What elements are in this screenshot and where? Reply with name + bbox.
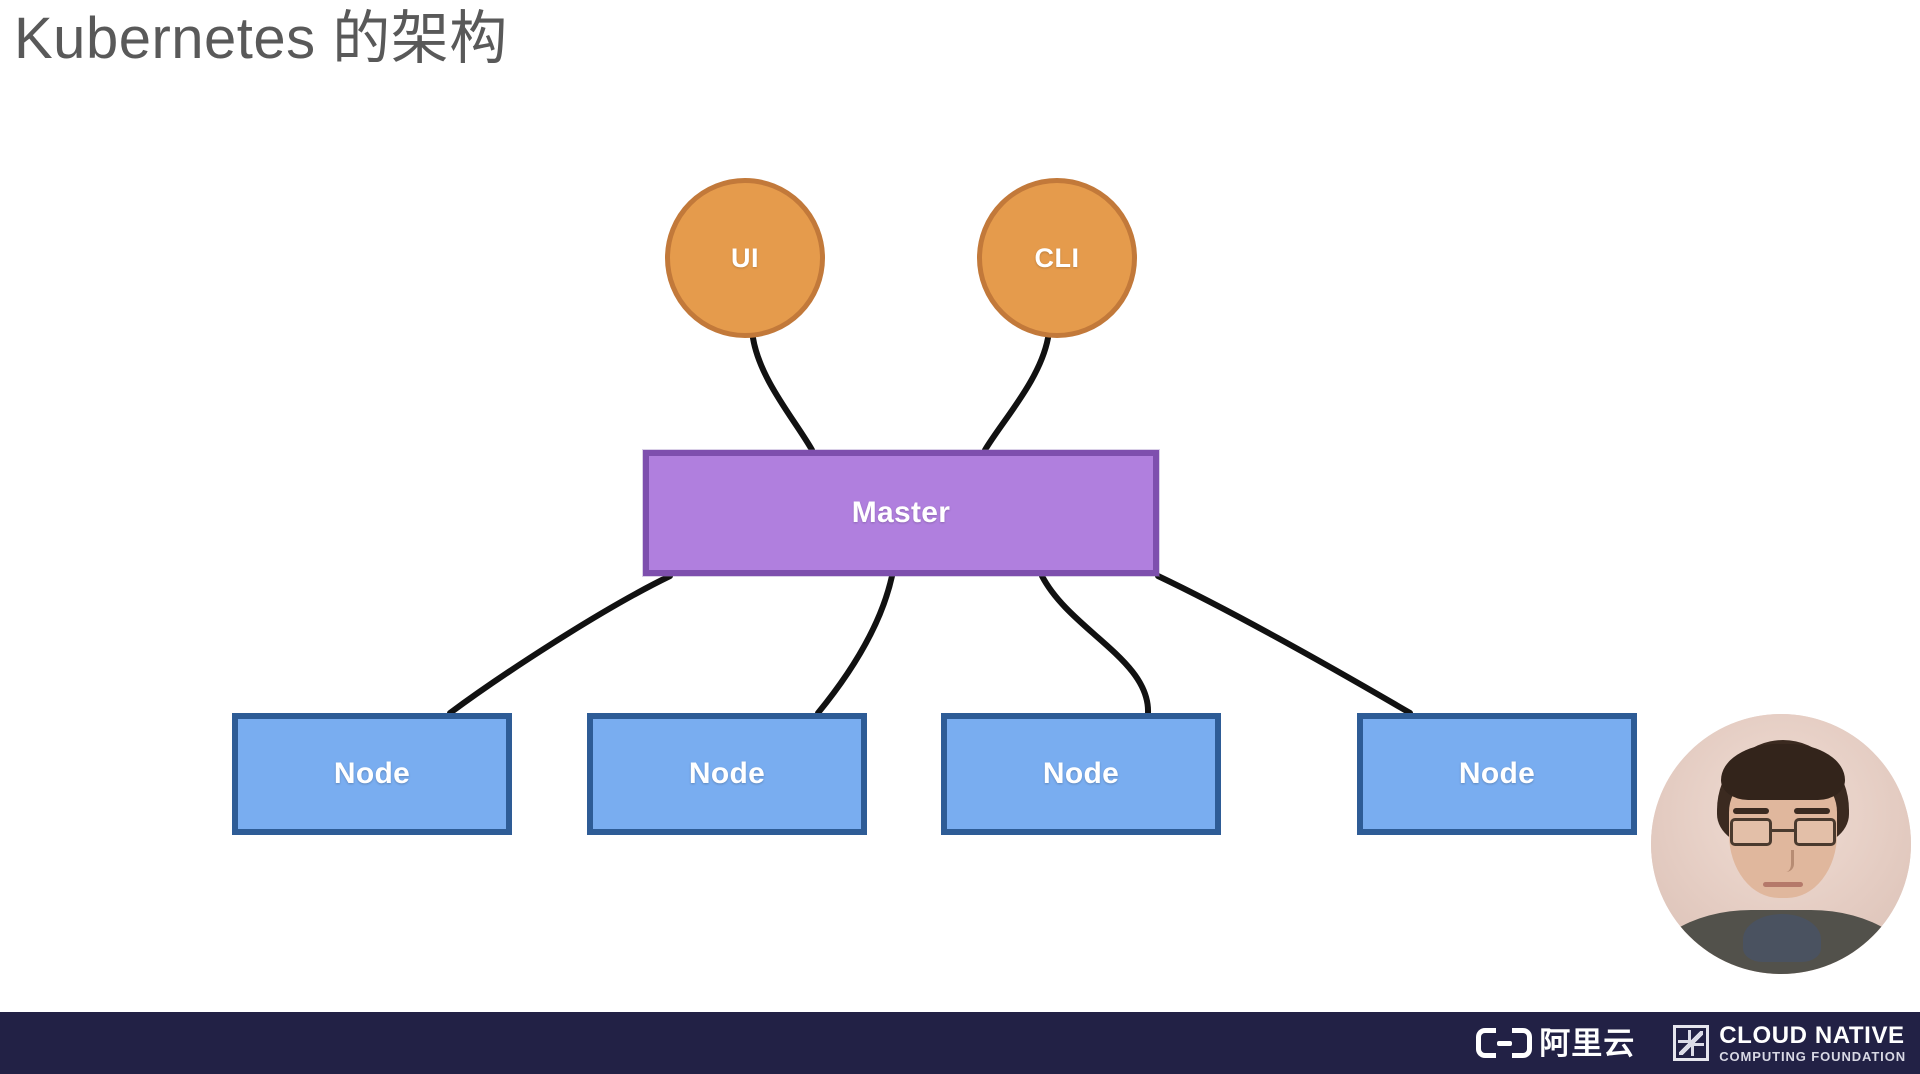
connector-master-to-node-2 — [818, 576, 892, 713]
diagram-node-worker-3-label: Node — [1043, 757, 1119, 791]
diagram-node-worker-1-label: Node — [334, 757, 410, 791]
webcam-mouth — [1763, 882, 1803, 887]
diagram-node-ui-label: UI — [731, 243, 759, 274]
glasses-lens-left — [1730, 818, 1772, 846]
aliyun-bracket-icon — [1476, 1028, 1532, 1058]
webcam-nose — [1775, 850, 1794, 872]
webcam-eyebrow-left — [1733, 808, 1769, 814]
diagram-node-master[interactable]: Master — [643, 450, 1159, 576]
aliyun-bracket-right — [1512, 1028, 1532, 1058]
kubernetes-architecture-diagram: UI CLI Master Node Node Node Node — [0, 0, 1920, 1012]
slide-footer-bar: 阿里云 CLOUD NATIVE COMPUTING FOUNDATION — [0, 1012, 1920, 1074]
diagram-node-worker-4-label: Node — [1459, 757, 1535, 791]
cncf-logo-line-2: COMPUTING FOUNDATION — [1719, 1050, 1906, 1063]
cncf-logo-text: CLOUD NATIVE COMPUTING FOUNDATION — [1719, 1024, 1906, 1063]
diagram-node-worker-1[interactable]: Node — [232, 713, 512, 835]
diagram-node-cli[interactable]: CLI — [977, 178, 1137, 338]
aliyun-logo: 阿里云 — [1476, 1028, 1635, 1059]
diagram-node-master-label: Master — [852, 496, 951, 530]
aliyun-logo-text: 阿里云 — [1539, 1028, 1635, 1059]
aliyun-bracket-left — [1476, 1028, 1496, 1058]
cncf-helm-corner-bl — [1678, 1040, 1694, 1056]
footer-logo-group: 阿里云 CLOUD NATIVE COMPUTING FOUNDATION — [1476, 1024, 1920, 1063]
diagram-node-cli-label: CLI — [1035, 243, 1080, 274]
connector-ui-to-master — [753, 338, 812, 450]
presentation-slide: Kubernetes 的架构 UI CLI Master — [0, 0, 1920, 1074]
diagram-node-worker-2[interactable]: Node — [587, 713, 867, 835]
connector-master-to-node-1 — [450, 576, 670, 713]
connector-master-to-node-4 — [1158, 576, 1410, 713]
diagram-node-worker-3[interactable]: Node — [941, 713, 1221, 835]
diagram-node-ui[interactable]: UI — [665, 178, 825, 338]
glasses-icon — [1730, 818, 1836, 848]
cncf-logo: CLOUD NATIVE COMPUTING FOUNDATION — [1673, 1024, 1906, 1063]
connector-master-to-node-3 — [1042, 576, 1148, 713]
connector-cli-to-master — [985, 338, 1048, 450]
aliyun-dash — [1497, 1041, 1512, 1046]
webcam-eyebrow-right — [1794, 808, 1830, 814]
diagram-node-worker-2-label: Node — [689, 757, 765, 791]
webcam-collar — [1743, 914, 1821, 962]
glasses-bridge — [1772, 829, 1794, 832]
glasses-lens-right — [1794, 818, 1836, 846]
presenter-webcam-avatar[interactable] — [1651, 714, 1911, 974]
cncf-helm-icon — [1673, 1025, 1709, 1061]
cncf-logo-line-1: CLOUD NATIVE — [1719, 1024, 1906, 1048]
webcam-fringe — [1721, 744, 1845, 800]
diagram-node-worker-4[interactable]: Node — [1357, 713, 1637, 835]
